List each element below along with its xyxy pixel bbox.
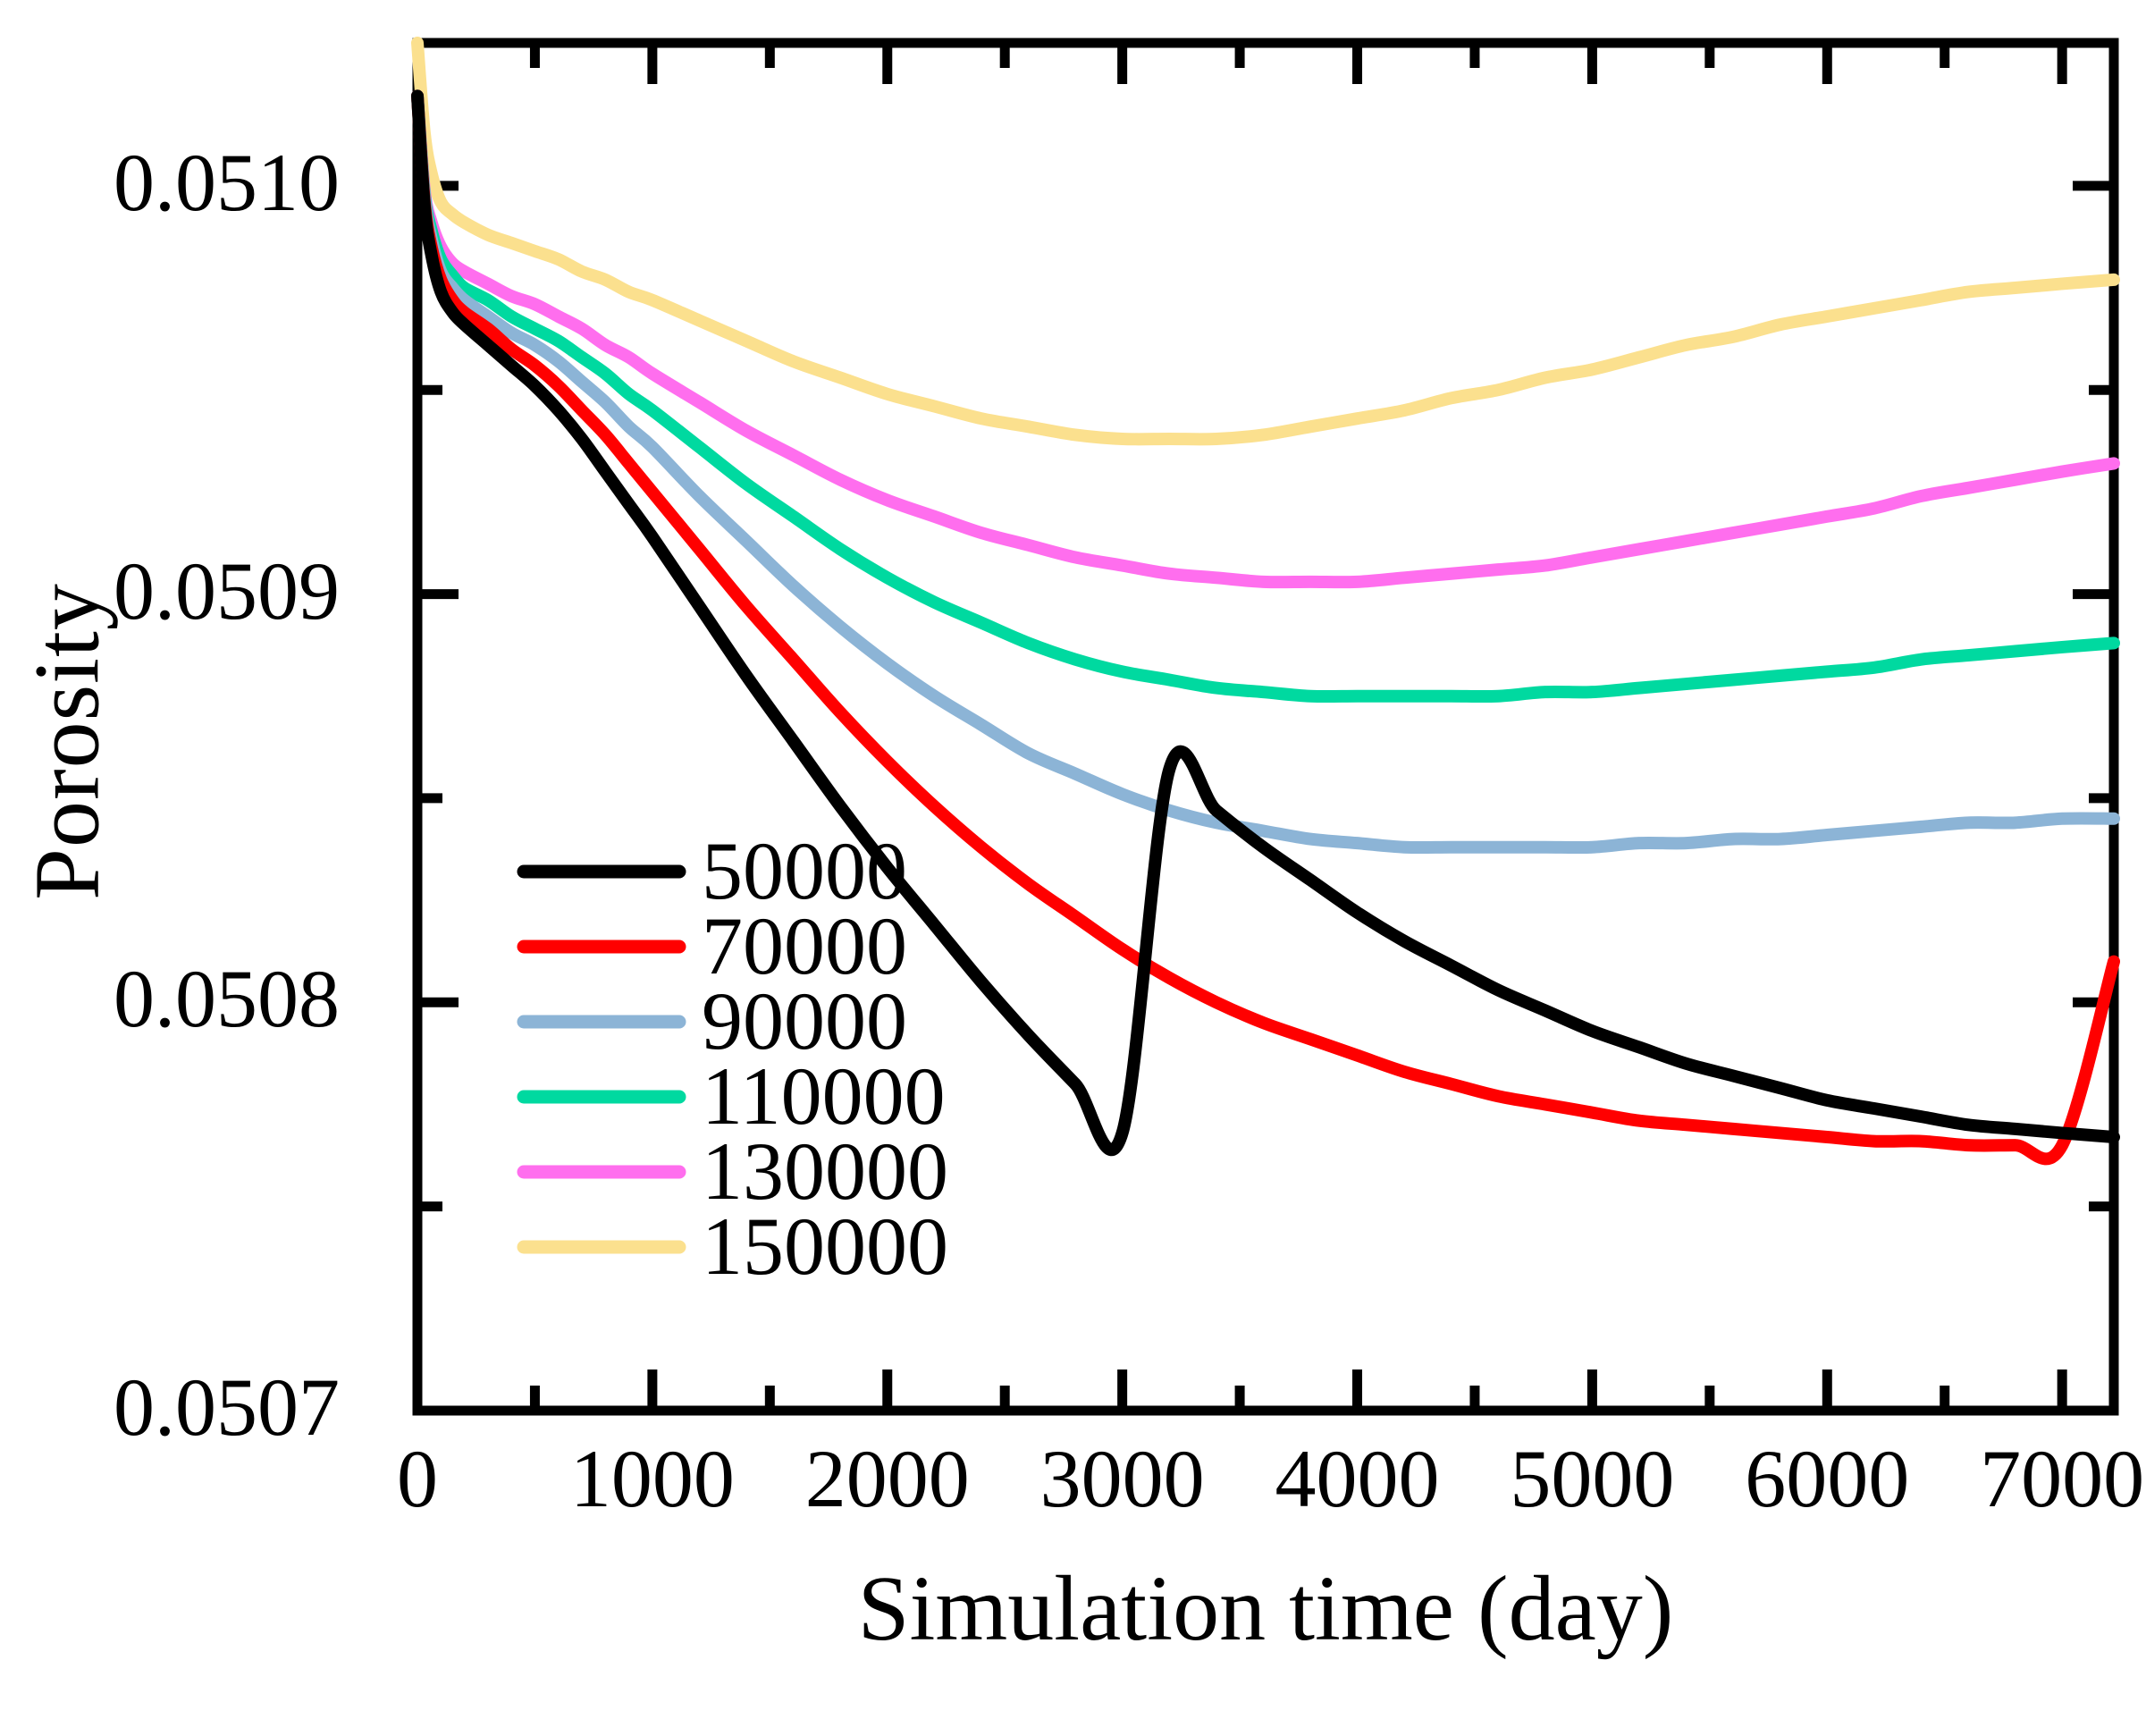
data-curves [417, 43, 2114, 1159]
x-tick-label: 0 [283, 1437, 551, 1520]
chart-figure: Porosity Simulation time (day) 0.05100.0… [0, 0, 2146, 1736]
y-tick-label: 0.0508 [114, 957, 340, 1040]
y-tick-label: 0.0509 [114, 550, 340, 632]
x-tick-label: 6000 [1693, 1437, 1961, 1520]
curve-110000 [417, 96, 2114, 696]
y-tick-label: 0.0507 [114, 1366, 340, 1448]
axis-frame [417, 43, 2114, 1411]
curve-50000 [417, 96, 2114, 1150]
x-tick-label: 3000 [989, 1437, 1257, 1520]
legend-label-150000: 150000 [702, 1205, 948, 1287]
x-tick-label: 1000 [518, 1437, 787, 1520]
curve-70000 [417, 96, 2114, 1159]
x-tick-label: 2000 [753, 1437, 1022, 1520]
axis-ticks [417, 43, 2114, 1411]
curve-90000 [417, 96, 2114, 847]
x-tick-label: 7000 [1928, 1437, 2146, 1520]
x-tick-label: 5000 [1458, 1437, 1726, 1520]
legend-swatches [524, 872, 679, 1247]
y-tick-label: 0.0510 [114, 141, 340, 223]
x-tick-label: 4000 [1224, 1437, 1492, 1520]
